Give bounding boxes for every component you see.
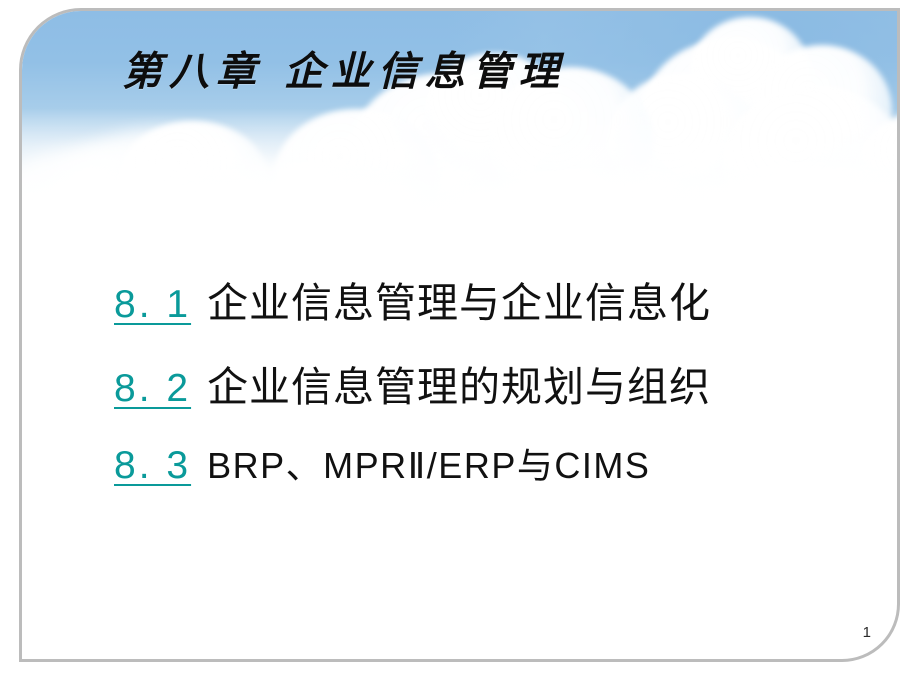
agenda-item-2[interactable]: 8. 2 企业信息管理的规划与组织 <box>114 353 874 437</box>
agenda-item-1[interactable]: 8. 1 企业信息管理与企业信息化 <box>114 269 874 353</box>
agenda-label-1: 企业信息管理与企业信息化 <box>207 269 711 329</box>
agenda-number-link-2[interactable]: 8. 2 <box>114 367 191 411</box>
page-number: 1 <box>863 624 871 641</box>
slide-title: 第八章 企业信息管理 <box>122 39 566 97</box>
slide-frame: 第八章 企业信息管理 8. 1 企业信息管理与企业信息化 8. 2 企业信息管理… <box>19 8 900 662</box>
agenda-label-2: 企业信息管理的规划与组织 <box>207 353 711 413</box>
agenda-number-link-3[interactable]: 8. 3 <box>114 444 191 488</box>
agenda-label-3: BRP、MPRⅡ/ERP与CIMS <box>207 437 650 489</box>
cloud-fade-to-white <box>22 108 897 243</box>
agenda-item-3[interactable]: 8. 3 BRP、MPRⅡ/ERP与CIMS <box>114 437 874 521</box>
agenda-number-link-1[interactable]: 8. 1 <box>114 283 191 327</box>
presentation-slide: 第八章 企业信息管理 8. 1 企业信息管理与企业信息化 8. 2 企业信息管理… <box>0 0 920 690</box>
agenda-list: 8. 1 企业信息管理与企业信息化 8. 2 企业信息管理的规划与组织 8. 3… <box>114 269 874 521</box>
